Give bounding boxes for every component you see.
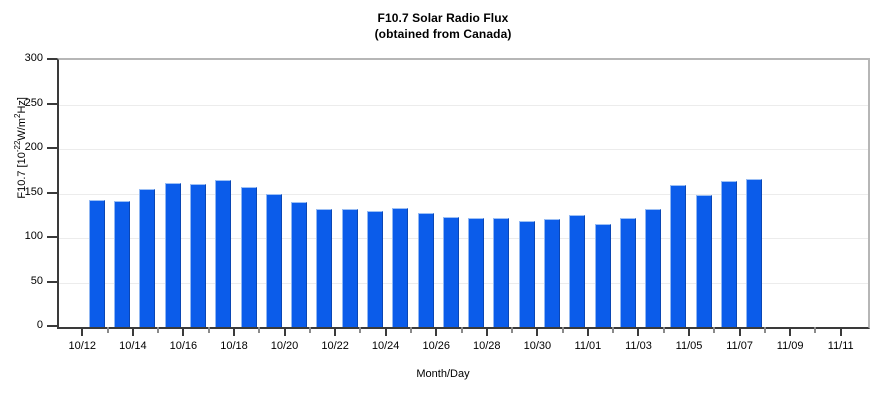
x-axis-tick-major bbox=[587, 327, 589, 336]
bar bbox=[595, 224, 611, 327]
bar bbox=[139, 189, 155, 327]
bar bbox=[342, 209, 358, 327]
bar bbox=[190, 184, 206, 327]
bar bbox=[316, 209, 332, 327]
x-axis-tick-major bbox=[435, 327, 437, 336]
y-axis-title-exponent2: 2 bbox=[13, 114, 22, 118]
x-axis-tick-major bbox=[536, 327, 538, 336]
y-axis-label: 200 bbox=[3, 142, 43, 153]
bar bbox=[418, 213, 434, 327]
x-axis-tick-minor bbox=[814, 327, 816, 333]
x-axis-tick-major bbox=[486, 327, 488, 336]
y-axis-tick bbox=[47, 147, 57, 149]
x-axis-tick-major bbox=[81, 327, 83, 336]
x-axis-tick-minor bbox=[258, 327, 260, 333]
bar bbox=[468, 218, 484, 327]
plot-area bbox=[57, 58, 870, 329]
bar bbox=[620, 218, 636, 327]
x-axis-tick-major bbox=[385, 327, 387, 336]
x-axis-tick-minor bbox=[764, 327, 766, 333]
bar bbox=[670, 185, 686, 327]
x-axis-tick-minor bbox=[107, 327, 109, 333]
bar bbox=[493, 218, 509, 327]
bar bbox=[89, 200, 105, 327]
y-axis-label: 300 bbox=[3, 53, 43, 64]
x-axis-tick-minor bbox=[511, 327, 513, 333]
bar bbox=[291, 202, 307, 327]
y-axis-tick bbox=[47, 103, 57, 105]
x-axis-tick-major bbox=[132, 327, 134, 336]
x-axis-tick-minor bbox=[359, 327, 361, 333]
y-axis-label: 100 bbox=[3, 231, 43, 242]
y-axis-tick bbox=[47, 325, 57, 327]
x-axis-tick-minor bbox=[713, 327, 715, 333]
bar bbox=[696, 195, 712, 327]
x-axis-tick-minor bbox=[410, 327, 412, 333]
bar-series bbox=[59, 60, 868, 327]
chart-figure: F10.7 Solar Radio Flux (obtained from Ca… bbox=[0, 0, 886, 400]
x-axis-tick-minor bbox=[663, 327, 665, 333]
x-axis-tick-major bbox=[840, 327, 842, 336]
y-axis-label: 150 bbox=[3, 187, 43, 198]
y-axis-label: 250 bbox=[3, 98, 43, 109]
x-axis-tick-major bbox=[233, 327, 235, 336]
bar bbox=[114, 201, 130, 327]
bar bbox=[544, 219, 560, 327]
chart-title: F10.7 Solar Radio Flux bbox=[0, 10, 886, 26]
bar bbox=[367, 211, 383, 327]
bar bbox=[165, 183, 181, 327]
x-axis-tick-minor bbox=[612, 327, 614, 333]
x-axis-tick-major bbox=[637, 327, 639, 336]
x-axis-tick-major bbox=[688, 327, 690, 336]
y-axis-label: 0 bbox=[3, 320, 43, 331]
x-axis-tick-minor bbox=[309, 327, 311, 333]
y-axis-tick bbox=[47, 192, 57, 194]
x-axis-tick-major bbox=[789, 327, 791, 336]
y-axis-tick bbox=[47, 58, 57, 60]
x-axis-tick-major bbox=[182, 327, 184, 336]
y-axis-tick bbox=[47, 281, 57, 283]
bar bbox=[266, 194, 282, 327]
x-axis-tick-major bbox=[284, 327, 286, 336]
bar bbox=[215, 180, 231, 327]
x-axis-label: 11/11 bbox=[811, 340, 871, 352]
x-axis-tick-major bbox=[334, 327, 336, 336]
chart-title-block: F10.7 Solar Radio Flux (obtained from Ca… bbox=[0, 10, 886, 42]
y-axis-tick bbox=[47, 236, 57, 238]
y-axis-title-suffix-a: W/m bbox=[16, 118, 28, 141]
x-axis-tick-minor bbox=[208, 327, 210, 333]
bar bbox=[241, 187, 257, 327]
x-axis-tick-minor bbox=[157, 327, 159, 333]
y-axis-label: 50 bbox=[3, 276, 43, 287]
x-axis-title: Month/Day bbox=[0, 368, 886, 380]
bar bbox=[443, 217, 459, 327]
bar bbox=[569, 215, 585, 327]
bar bbox=[746, 179, 762, 327]
bar bbox=[519, 221, 535, 327]
bar bbox=[721, 181, 737, 327]
x-axis-tick-minor bbox=[461, 327, 463, 333]
bar bbox=[392, 208, 408, 327]
chart-subtitle: (obtained from Canada) bbox=[0, 26, 886, 42]
x-axis-tick-minor bbox=[562, 327, 564, 333]
bar bbox=[645, 209, 661, 327]
x-axis-tick-major bbox=[739, 327, 741, 336]
